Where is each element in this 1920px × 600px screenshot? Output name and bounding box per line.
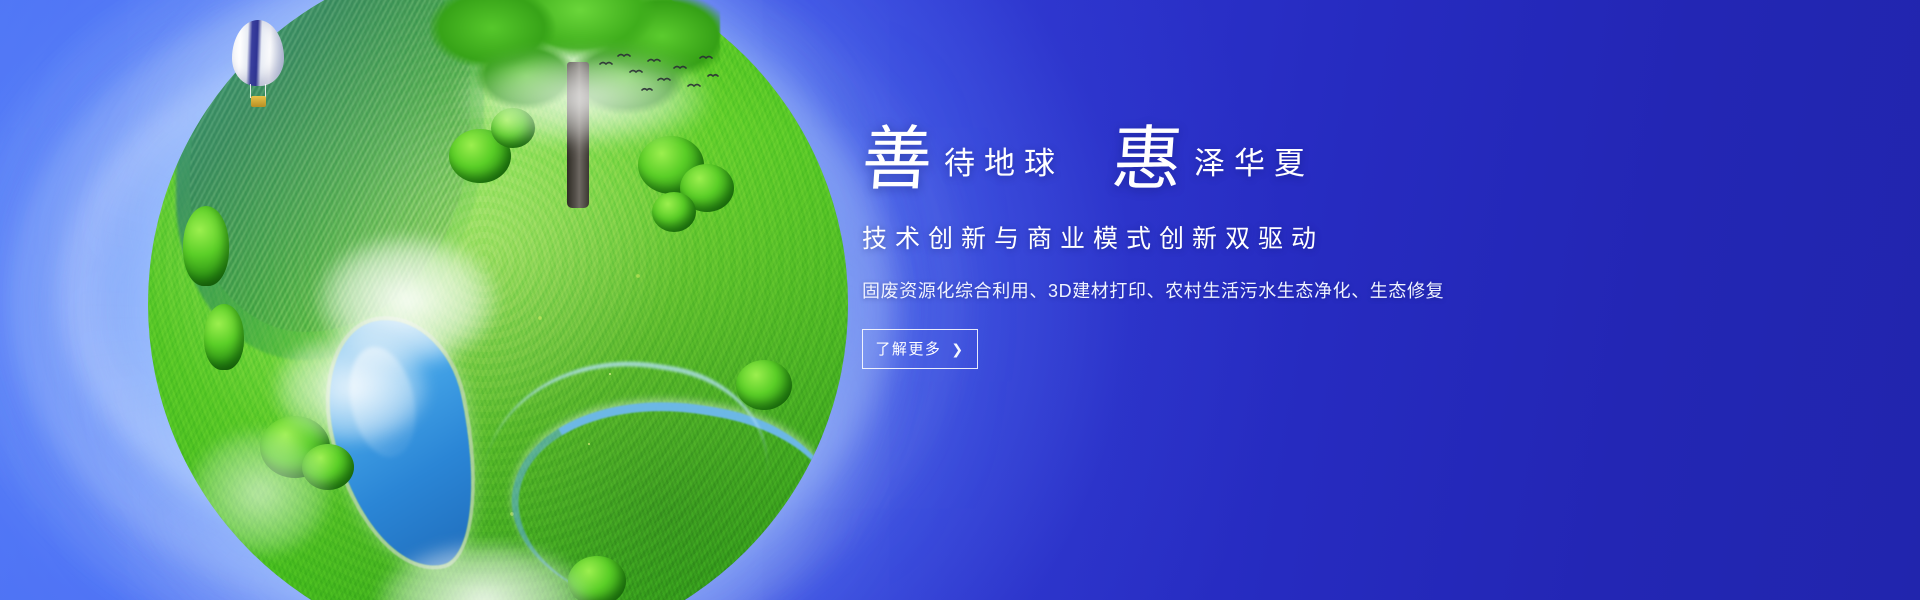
chevron-right-icon: ❯ (951, 342, 964, 356)
balloon-envelope (232, 20, 284, 86)
tree-bush (568, 556, 626, 600)
headline-part-2: 泽华夏 (1194, 138, 1314, 183)
hero-banner: 善 待地球 惠 泽华夏 技术创新与商业模式创新双驱动 固废资源化综合利用、3D建… (0, 0, 1920, 600)
subtitle: 技术创新与商业模式创新双驱动 (862, 219, 1562, 255)
headline-char-2: 惠 (1110, 128, 1185, 195)
learn-more-label: 了解更多 (875, 338, 941, 359)
large-tree (430, 0, 720, 216)
balloon-basket (251, 96, 266, 107)
hot-air-balloon-icon (232, 20, 284, 116)
description: 固废资源化综合利用、3D建材打印、农村生活污水生态净化、生态修复 (862, 277, 1562, 303)
headline-part-1: 待地球 (944, 138, 1064, 183)
tree-bush (302, 444, 354, 490)
tree-bush (183, 206, 229, 286)
bird-flock-icon (596, 50, 720, 96)
hero-content: 善 待地球 惠 泽华夏 技术创新与商业模式创新双驱动 固废资源化综合利用、3D建… (862, 128, 1562, 369)
learn-more-button[interactable]: 了解更多 ❯ (862, 329, 978, 369)
headline: 善 待地球 惠 泽华夏 (862, 128, 1562, 195)
tree-bush (204, 304, 244, 370)
tree-bush (736, 360, 792, 410)
headline-char-1: 善 (860, 128, 935, 195)
